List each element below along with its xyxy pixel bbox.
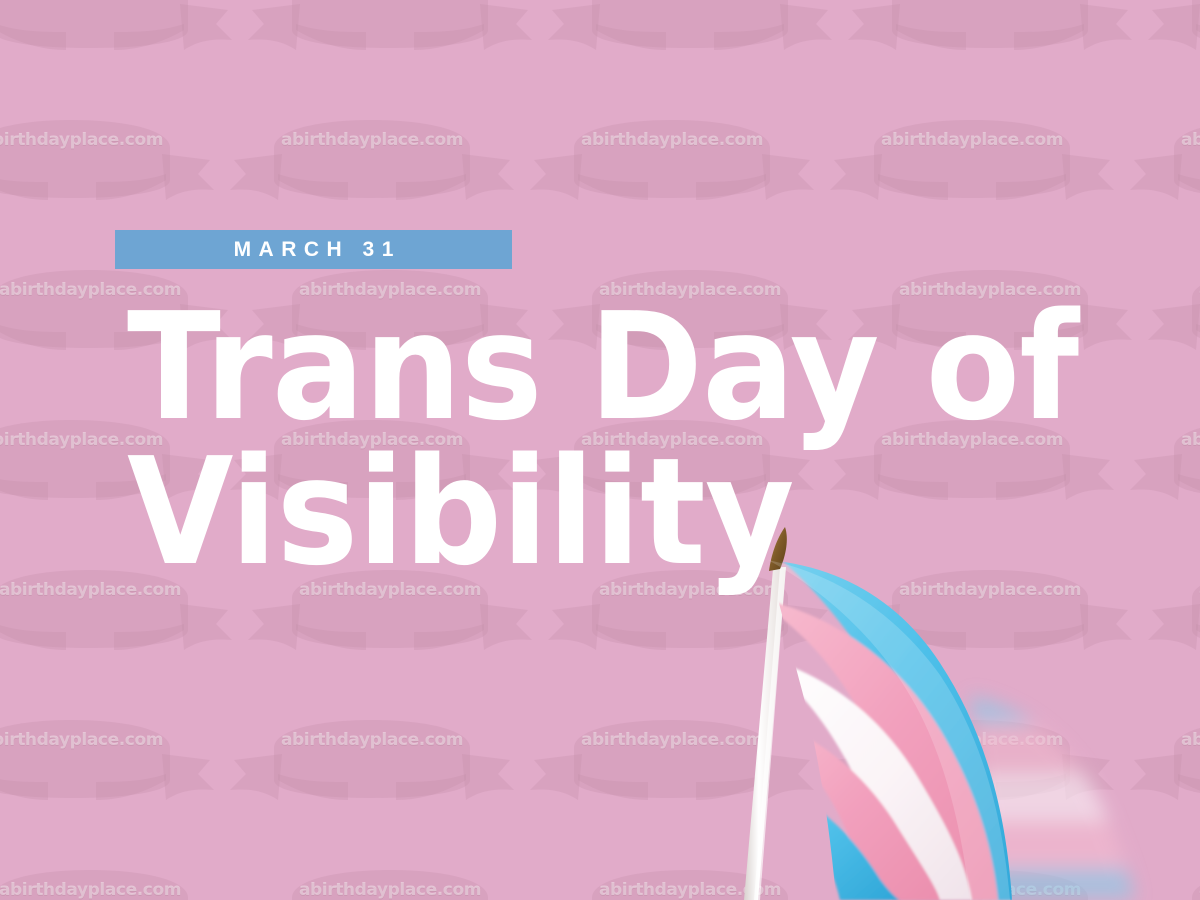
poster-canvas: abirthdayplace.com abirthdayplace.com ab… [0, 0, 1200, 900]
page-title-line-1: Trans Day of [127, 295, 964, 440]
page-title-line-2: Visibility [127, 440, 964, 585]
poster-content: MARCH 31 Trans Day of Visibility [0, 0, 1200, 900]
date-badge: MARCH 31 [115, 230, 512, 269]
date-badge-label: MARCH 31 [226, 239, 401, 260]
page-title: Trans Day of Visibility [127, 295, 1027, 585]
